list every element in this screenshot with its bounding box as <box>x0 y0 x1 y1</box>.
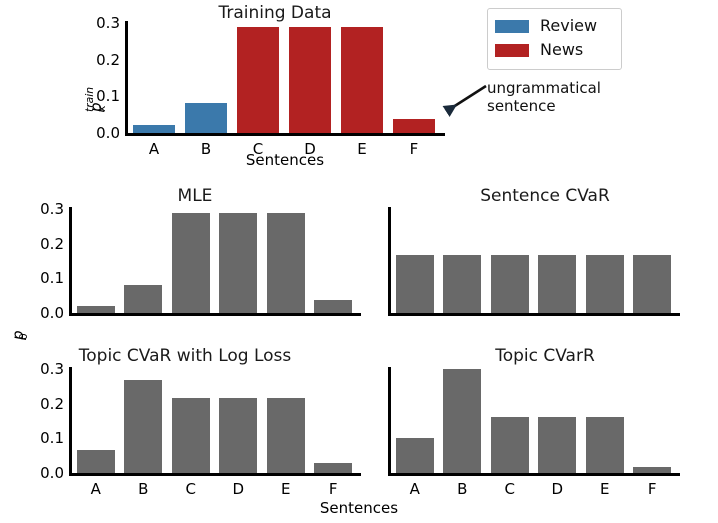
y-axis-spine-sentence-cvar <box>388 207 391 315</box>
legend-item-review: Review <box>495 14 611 38</box>
y-tick-label: 0.2 <box>16 397 64 412</box>
panel-topic-cvar-log-loss: Topic CVaR with Log Loss 0.00.10.20.3ABC… <box>0 345 365 505</box>
x-tick-label-a: A <box>128 142 180 157</box>
bar-c <box>237 27 279 133</box>
x-tick-label-b: B <box>439 482 487 497</box>
bar-e <box>586 255 624 313</box>
y-axis-spine-topic-cvar-log-loss <box>69 367 72 475</box>
bar-d <box>219 213 257 313</box>
y-tick-label: 0.3 <box>72 16 120 31</box>
bar-a <box>77 450 115 473</box>
legend-swatch-news <box>495 44 529 57</box>
x-tick-label-f: F <box>310 482 358 497</box>
bar-a <box>396 438 434 473</box>
legend-item-news: News <box>495 38 611 62</box>
x-tick-label-a: A <box>391 482 439 497</box>
bar-e <box>341 27 383 133</box>
bar-b <box>443 255 481 313</box>
legend-label-news: News <box>540 41 583 59</box>
panel-topic-cvarr: Topic CVarR ABCDEF <box>365 345 718 505</box>
x-tick-label-c: C <box>486 482 534 497</box>
panel-training-data: Training Data ptrainx Sentences 0.00.10.… <box>0 0 480 175</box>
x-tick-label-b: B <box>120 482 168 497</box>
bar-e <box>267 398 305 473</box>
plot-area-training-data <box>128 23 440 133</box>
legend-label-review: Review <box>540 17 597 35</box>
bar-d <box>538 417 576 473</box>
bar-a <box>133 125 175 133</box>
bar-d <box>289 27 331 133</box>
plot-area-sentence-cvar <box>391 209 676 313</box>
bar-e <box>586 417 624 473</box>
bar-f <box>314 463 352 473</box>
figure-root: Training Data ptrainx Sentences 0.00.10.… <box>0 0 718 523</box>
x-tick-label-e: E <box>262 482 310 497</box>
bar-b <box>124 285 162 313</box>
panel-title-sentence-cvar: Sentence CVaR <box>385 187 705 206</box>
plot-area-mle <box>72 209 357 313</box>
x-tick-label-d: D <box>284 142 336 157</box>
legend-swatch-review <box>495 20 529 33</box>
legend: Review News <box>487 8 622 70</box>
plot-area-topic-cvar-log-loss <box>72 369 357 473</box>
annotation-line-2: sentence <box>487 97 556 115</box>
bar-f <box>633 255 671 313</box>
x-tick-label-a: A <box>72 482 120 497</box>
x-axis-spine-topic-cvar-log-loss <box>69 473 361 476</box>
x-tick-label-f: F <box>388 142 440 157</box>
x-tick-label-b: B <box>180 142 232 157</box>
plot-area-topic-cvarr <box>391 369 676 473</box>
y-axis-label-sub: x <box>93 106 110 112</box>
panel-sentence-cvar: Sentence CVaR <box>365 185 718 335</box>
bar-a <box>396 255 434 313</box>
y-tick-label: 0.1 <box>72 89 120 104</box>
annotation-line-1: ungrammatical <box>487 79 601 97</box>
bar-b <box>185 103 227 133</box>
bar-c <box>491 417 529 473</box>
y-tick-label: 0.3 <box>16 362 64 377</box>
panel-title-topic-cvarr: Topic CVarR <box>385 347 705 366</box>
y-tick-label: 0.2 <box>16 237 64 252</box>
bar-f <box>393 119 435 133</box>
y-tick-label: 0.3 <box>16 202 64 217</box>
bar-f <box>314 300 352 313</box>
bar-c <box>172 398 210 473</box>
x-tick-label-e: E <box>336 142 388 157</box>
bar-c <box>491 255 529 313</box>
x-tick-label-f: F <box>629 482 677 497</box>
bar-b <box>443 369 481 473</box>
x-axis-spine-training-data <box>125 133 445 136</box>
x-axis-spine-mle <box>69 313 361 316</box>
bar-e <box>267 213 305 313</box>
x-tick-label-e: E <box>581 482 629 497</box>
bar-d <box>219 398 257 473</box>
x-tick-label-c: C <box>167 482 215 497</box>
x-axis-spine-topic-cvarr <box>388 473 680 476</box>
panel-mle: MLE 0.00.10.20.3 <box>0 185 365 335</box>
bar-b <box>124 380 162 473</box>
x-tick-label-d: D <box>215 482 263 497</box>
panel-title-mle: MLE <box>40 187 350 206</box>
x-tick-label-c: C <box>232 142 284 157</box>
x-axis-spine-sentence-cvar <box>388 313 680 316</box>
y-axis-spine-training-data <box>125 21 128 135</box>
y-tick-label: 0.2 <box>72 53 120 68</box>
panel-title-training-data: Training Data <box>110 4 440 23</box>
bar-c <box>172 213 210 313</box>
bar-a <box>77 306 115 313</box>
y-tick-label: 0.1 <box>16 271 64 286</box>
bar-d <box>538 255 576 313</box>
panel-title-topic-cvar-log-loss: Topic CVaR with Log Loss <box>20 347 350 366</box>
x-tick-label-d: D <box>534 482 582 497</box>
y-axis-spine-topic-cvarr <box>388 367 391 475</box>
y-tick-label: 0.0 <box>16 306 64 321</box>
y-axis-spine-mle <box>69 207 72 315</box>
x-axis-label-shared: Sentences <box>244 500 474 517</box>
y-tick-label: 0.0 <box>16 466 64 481</box>
y-tick-label: 0.1 <box>16 431 64 446</box>
y-tick-label: 0.0 <box>72 126 120 141</box>
